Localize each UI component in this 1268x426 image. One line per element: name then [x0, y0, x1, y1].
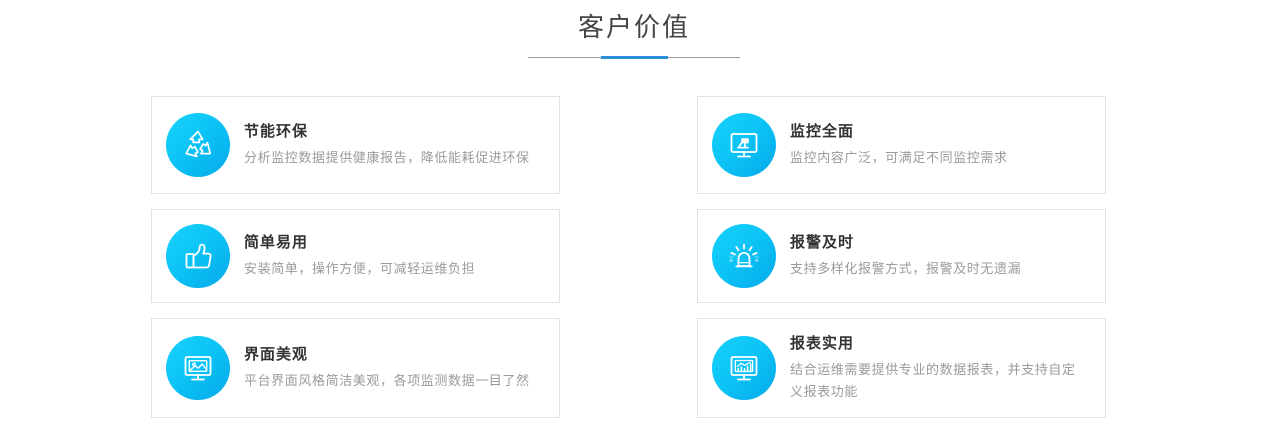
card-description: 安装简单，操作方便，可减轻运维负担: [244, 258, 543, 280]
monitor-image-icon: [166, 336, 230, 400]
title-underline: [528, 56, 740, 60]
value-card-full-monitoring[interactable]: 监控全面 监控内容广泛，可满足不同监控需求: [697, 96, 1106, 194]
monitor-chart-icon: [712, 336, 776, 400]
page-title: 客户价值: [578, 10, 690, 44]
value-card-easy-to-use[interactable]: 简单易用 安装简单，操作方便，可减轻运维负担: [151, 209, 560, 303]
monitor-camera-icon: [712, 113, 776, 177]
value-card-practical-reports[interactable]: 报表实用 结合运维需要提供专业的数据报表，并支持自定义报表功能: [697, 318, 1106, 418]
card-description: 监控内容广泛，可满足不同监控需求: [790, 147, 1089, 169]
page-header: 客户价值: [0, 0, 1268, 60]
value-card-timely-alarm[interactable]: 报警及时 支持多样化报警方式，报警及时无遗漏: [697, 209, 1106, 303]
card-title: 监控全面: [790, 121, 1089, 143]
card-title: 界面美观: [244, 344, 543, 366]
card-description: 平台界面风格简洁美观，各项监测数据一目了然: [244, 370, 543, 392]
value-card-energy-saving[interactable]: 节能环保 分析监控数据提供健康报告，降低能耗促进环保: [151, 96, 560, 194]
card-title: 节能环保: [244, 121, 543, 143]
title-underline-accent: [601, 56, 668, 59]
card-description: 分析监控数据提供健康报告，降低能耗促进环保: [244, 147, 543, 169]
recycle-icon: [166, 113, 230, 177]
card-title: 报表实用: [790, 333, 1089, 355]
thumbs-up-icon: [166, 224, 230, 288]
card-title: 简单易用: [244, 232, 543, 254]
card-description: 支持多样化报警方式，报警及时无遗漏: [790, 258, 1089, 280]
card-body: 简单易用 安装简单，操作方便，可减轻运维负担: [244, 232, 543, 280]
value-cards-grid: 节能环保 分析监控数据提供健康报告，降低能耗促进环保 监控全面 监控内容广泛，可…: [151, 96, 1106, 418]
card-body: 报表实用 结合运维需要提供专业的数据报表，并支持自定义报表功能: [790, 333, 1089, 403]
card-body: 报警及时 支持多样化报警方式，报警及时无遗漏: [790, 232, 1089, 280]
value-card-beautiful-ui[interactable]: 界面美观 平台界面风格简洁美观，各项监测数据一目了然: [151, 318, 560, 418]
card-body: 界面美观 平台界面风格简洁美观，各项监测数据一目了然: [244, 344, 543, 392]
card-title: 报警及时: [790, 232, 1089, 254]
card-body: 节能环保 分析监控数据提供健康报告，降低能耗促进环保: [244, 121, 543, 169]
card-body: 监控全面 监控内容广泛，可满足不同监控需求: [790, 121, 1089, 169]
alarm-siren-icon: [712, 224, 776, 288]
card-description: 结合运维需要提供专业的数据报表，并支持自定义报表功能: [790, 359, 1089, 403]
